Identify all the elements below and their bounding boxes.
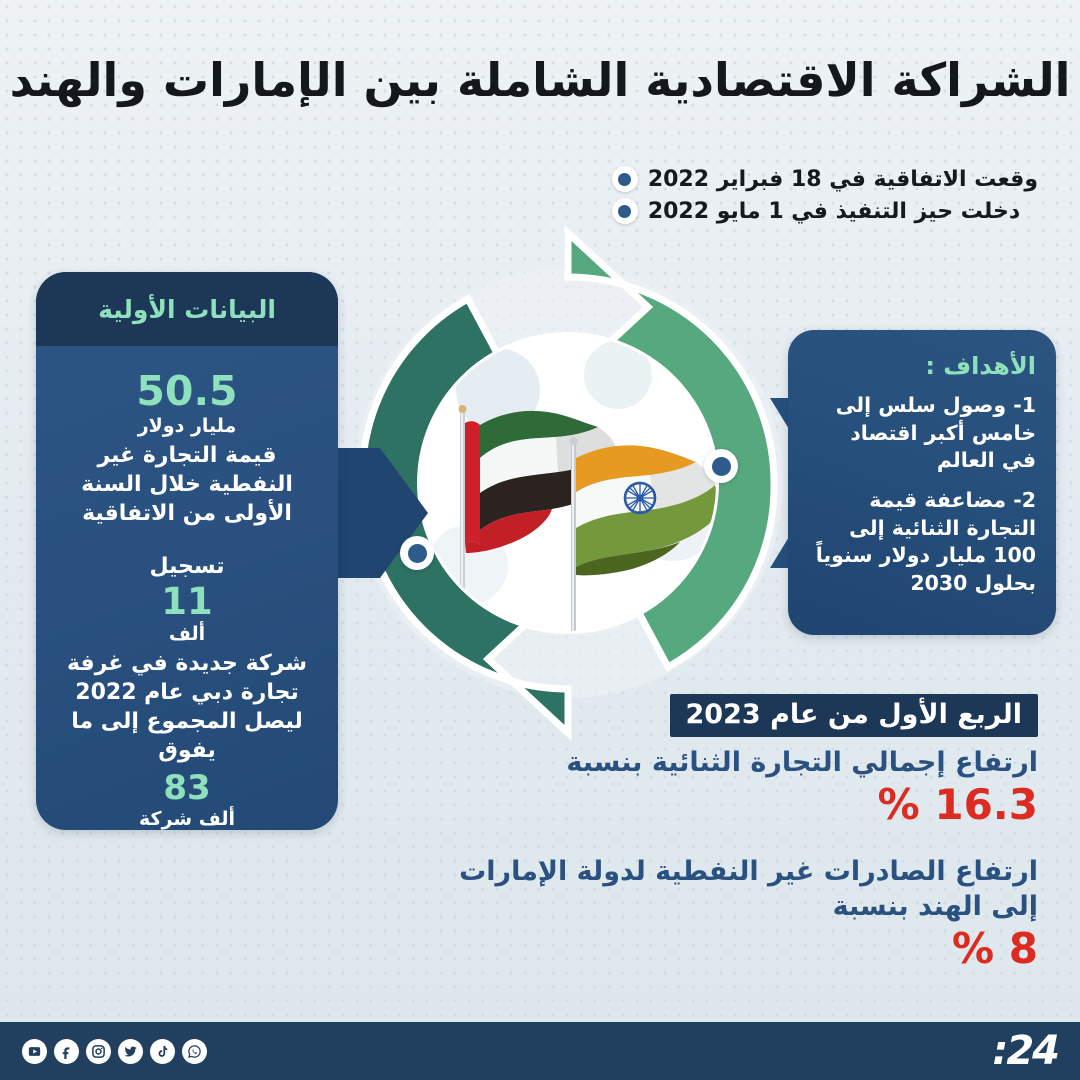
stat-value-companies: 11 <box>54 583 320 622</box>
preliminary-data-panel: البيانات الأولية 50.5 مليار دولار قيمة ا… <box>36 272 338 830</box>
objectives-panel: الأهداف : 1- وصول سلس إلى خامس أكبر اقتص… <box>788 330 1056 635</box>
connector-dot-right <box>704 449 738 483</box>
bullet-label: دخلت حيز التنفيذ في 1 مايو 2022 <box>648 199 1020 224</box>
instagram-icon[interactable] <box>86 1039 111 1064</box>
stat-value-trade: 50.5 <box>54 370 320 413</box>
objective-item-2: 2- مضاعفة قيمة التجارة الثنائية إلى 100 … <box>810 487 1036 598</box>
connector-dot-left <box>400 536 434 570</box>
facebook-icon[interactable] <box>54 1039 79 1064</box>
list-item: وقعت الاتفاقية في 18 فبراير 2022 <box>612 166 1038 192</box>
bullet-dot-icon <box>612 198 638 224</box>
whatsapp-icon[interactable] <box>182 1039 207 1064</box>
stat-bilateral-trade-pct: 16.3 % <box>418 782 1038 828</box>
social-links[interactable] <box>22 1039 207 1064</box>
tiktok-icon[interactable] <box>150 1039 175 1064</box>
stat-label-registration: تسجيل <box>54 554 320 579</box>
stat-bilateral-trade-label: ارتفاع إجمالي التجارة الثنائية بنسبة <box>418 745 1038 780</box>
page-title: الشراكة الاقتصادية الشاملة بين الإمارات … <box>0 54 1080 107</box>
stat-nonoil-exports-pct: 8 % <box>418 926 1038 972</box>
brand-logo: :24 <box>992 1031 1058 1071</box>
bullet-dot-icon <box>612 166 638 192</box>
stat-nonoil-exports-label: ارتفاع الصادرات غير النفطية لدولة الإمار… <box>418 854 1038 924</box>
stat-value-total: 83 <box>54 771 320 807</box>
stat-desc-companies: شركة جديدة في غرفة تجارة دبي عام 2022 لي… <box>54 649 320 765</box>
twitter-icon[interactable] <box>118 1039 143 1064</box>
panel-header-label: البيانات الأولية <box>98 295 276 324</box>
q1-period-badge: الربع الأول من عام 2023 <box>670 694 1038 737</box>
list-item: دخلت حيز التنفيذ في 1 مايو 2022 <box>612 198 1020 224</box>
key-dates-list: وقعت الاتفاقية في 18 فبراير 2022 دخلت حي… <box>612 166 1038 224</box>
stat-unit-companies: ألف <box>54 623 320 645</box>
stat-unit-trade: مليار دولار <box>54 415 320 437</box>
stat-desc-trade: قيمة التجارة غير النفطية خلال السنة الأو… <box>54 441 320 528</box>
objective-item-1: 1- وصول سلس إلى خامس أكبر اقتصاد في العا… <box>810 392 1036 475</box>
q1-stats-section: الربع الأول من عام 2023 ارتفاع إجمالي ال… <box>418 694 1038 973</box>
objectives-title: الأهداف : <box>810 352 1036 380</box>
infographic-canvas: الشراكة الاقتصادية الشاملة بين الإمارات … <box>0 0 1080 1080</box>
youtube-icon[interactable] <box>22 1039 47 1064</box>
stat-unit-total: ألف شركة <box>54 808 320 830</box>
bullet-label: وقعت الاتفاقية في 18 فبراير 2022 <box>648 167 1038 192</box>
panel-body: 50.5 مليار دولار قيمة التجارة غير النفطي… <box>36 346 338 830</box>
panel-header: البيانات الأولية <box>36 272 338 346</box>
footer-bar: :24 <box>0 1022 1080 1080</box>
